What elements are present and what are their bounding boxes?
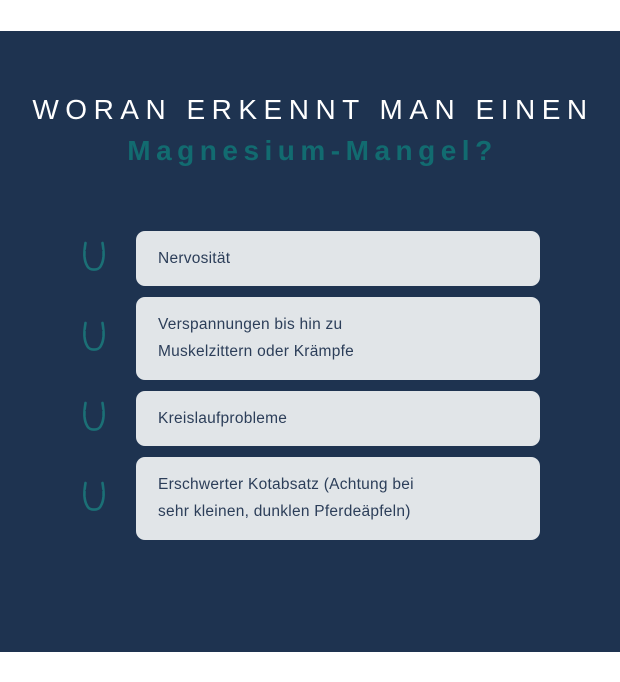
symptom-text: Nervosität: [158, 245, 518, 272]
headline-line-1: WORAN ERKENNT MAN EINEN: [0, 93, 620, 127]
poster-panel: WORAN ERKENNT MAN EINEN Magnesium-Mangel…: [0, 31, 620, 652]
list-item: Kreislaufprobleme: [0, 391, 620, 446]
horseshoe-icon: [78, 239, 110, 279]
symptom-text: sehr kleinen, dunklen Pferdeäpfeln): [158, 498, 518, 525]
symptom-text: Kreislaufprobleme: [158, 405, 518, 432]
symptom-card: Nervosität: [136, 231, 540, 286]
list-item: Erschwerter Kotabsatz (Achtung bei sehr …: [0, 457, 620, 540]
symptom-card: Erschwerter Kotabsatz (Achtung bei sehr …: [136, 457, 540, 540]
horseshoe-icon: [78, 399, 110, 439]
symptom-card: Kreislaufprobleme: [136, 391, 540, 446]
headline-block: WORAN ERKENNT MAN EINEN Magnesium-Mangel…: [0, 93, 620, 171]
headline-line-2: Magnesium-Mangel?: [0, 131, 620, 171]
symptom-text: Erschwerter Kotabsatz (Achtung bei: [158, 471, 518, 498]
symptom-list: Nervosität Verspannungen bis hin zu Musk…: [0, 231, 620, 551]
list-item: Nervosität: [0, 231, 620, 286]
list-item: Verspannungen bis hin zu Muskelzittern o…: [0, 297, 620, 380]
horseshoe-icon: [78, 319, 110, 359]
horseshoe-icon: [78, 479, 110, 519]
symptom-text: Muskelzittern oder Krämpfe: [158, 338, 518, 365]
symptom-text: Verspannungen bis hin zu: [158, 311, 518, 338]
symptom-card: Verspannungen bis hin zu Muskelzittern o…: [136, 297, 540, 380]
